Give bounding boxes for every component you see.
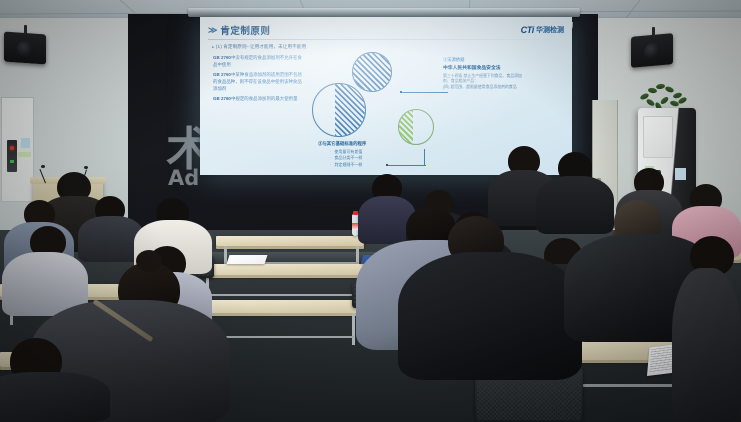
panel-label-sticker-2 bbox=[18, 152, 31, 157]
panel-power-led-icon bbox=[10, 146, 14, 150]
annotation-line: (四) 超范围、超限量使用食品添加剂的食品 bbox=[443, 84, 525, 90]
slide-bullet-list: GB 2760中没有规定的食品添加剂不允许在食品中使用 GB 2760中某种食品… bbox=[213, 55, 305, 106]
list-item: GB 2760中规定的食品添加剂的最大使用量 bbox=[213, 96, 305, 103]
annotation-heading: ②法源依据 bbox=[443, 57, 525, 63]
ac-grille bbox=[643, 116, 673, 158]
slide-title: 肯定制原则 bbox=[220, 23, 270, 37]
projection-screen-roller bbox=[188, 8, 580, 17]
slide-title-group: ≫ 肯定制原则 bbox=[208, 23, 270, 37]
ac-info-sticker bbox=[675, 168, 686, 180]
annotation-heading: ③与其它基础标准的程序 bbox=[318, 141, 428, 147]
speaker-cone-icon bbox=[17, 40, 33, 57]
speaker-mount-right bbox=[652, 27, 655, 37]
panel-label-sticker bbox=[21, 138, 30, 148]
slide-annotation-right: ②法源依据 中华人民共和国食品安全法 第三十四条 禁止生产经营下列食品、食品添加… bbox=[443, 57, 525, 90]
diagram-circle-large bbox=[312, 83, 366, 137]
speaker-cone-icon bbox=[644, 42, 660, 59]
handout-paper bbox=[227, 255, 268, 264]
list-item: GB 2760中没有规定的食品添加剂不允许在食品中使用 bbox=[213, 55, 305, 69]
desk bbox=[196, 264, 368, 275]
microphone-head-icon bbox=[41, 165, 45, 168]
hatch-fill-green bbox=[399, 110, 433, 144]
classroom-scene: 术 Ad 理 ion ≫ 肯定制原则 CTi 华测检测 bbox=[0, 0, 741, 422]
desk-leg bbox=[352, 313, 355, 345]
slide-lead-text: (1) 肯定制原则--让用才能用，未让用不能用 bbox=[212, 44, 306, 50]
microphone-head-icon bbox=[84, 166, 88, 169]
annotation-line: 第三十四条 禁止生产经营下列食品、食品添加剂、食品相关产品： bbox=[443, 73, 525, 85]
electrical-panel[interactable] bbox=[1, 97, 34, 202]
chevron-right-icon: ≫ bbox=[208, 25, 216, 36]
annotation-subheading: 中华人民共和国食品安全法 bbox=[443, 64, 525, 71]
hatch-fill-blue bbox=[313, 84, 365, 136]
panel-display bbox=[7, 140, 17, 172]
desk bbox=[216, 236, 364, 246]
diagram-circle-green bbox=[398, 109, 434, 145]
slide-annotation-bottom: ③与其它基础标准的程序 使用量可有差值 食品分类不一样 判定规则不一样 bbox=[318, 141, 428, 168]
desk-rail bbox=[206, 294, 360, 296]
logo-name: 华测检测 bbox=[536, 25, 564, 35]
cti-logo: CTi 华测检测 bbox=[521, 25, 564, 35]
wall-speaker-right bbox=[631, 33, 673, 68]
list-item: GB 2760中某种食品添加剂的适用范围不包括的食品品种，则不得在该食品中使用该… bbox=[213, 72, 305, 92]
annotation-line: 判定规则不一样 bbox=[318, 162, 428, 168]
panel-status-led-icon bbox=[10, 160, 14, 163]
diagram-circle-top bbox=[352, 52, 392, 92]
wall-sign-left-en: Ad bbox=[168, 168, 199, 189]
slide-title-divider bbox=[208, 39, 564, 40]
wall-speaker-left bbox=[4, 32, 46, 65]
slide-header: ≫ 肯定制原则 CTi 华测检测 bbox=[208, 23, 564, 37]
speaker-mount-left bbox=[24, 25, 27, 35]
hatch-fill-blue bbox=[353, 53, 391, 91]
logo-mark: CTi bbox=[521, 25, 534, 35]
